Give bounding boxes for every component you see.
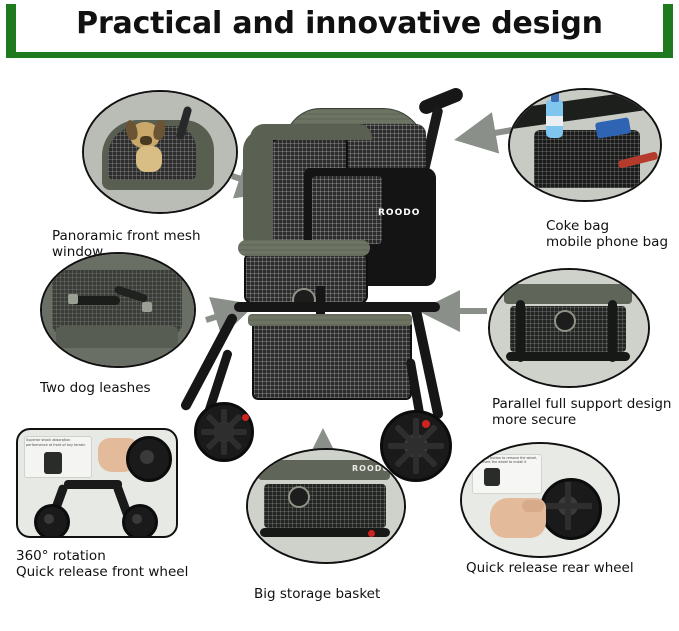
front-wheel: [194, 402, 254, 462]
lower-fabric-lip: [238, 240, 370, 256]
infographic-page: Practical and innovative design: [0, 0, 679, 631]
front-wheel-release: [242, 414, 249, 421]
storage-basket: [252, 320, 412, 400]
page-title: Practical and innovative design: [0, 6, 679, 41]
basket-release-dot: [368, 530, 375, 537]
feature-photo-parallel-full-support-design: [488, 268, 650, 388]
feature-photo-360-rotation-quick-release-front-wheel: Superior shock absorption performance at…: [16, 428, 178, 538]
caption-parallel-full-support-design: Parallel full support design more secure: [492, 396, 679, 428]
frame-rail-upper: [234, 302, 440, 312]
caption-two-dog-leashes: Two dog leashes: [40, 380, 240, 396]
canopy-trim-top: [250, 124, 372, 140]
feature-photo-two-dog-leashes: [40, 252, 196, 368]
caption-quick-release-rear-wheel: Quick release rear wheel: [466, 560, 666, 576]
caption-360-rotation-quick-release-front-wheel: 360° rotation Quick release front wheel: [16, 548, 226, 580]
header-band: Practical and innovative design: [0, 0, 679, 58]
brand-badge-inset: ROODO: [352, 464, 390, 473]
feature-photo-panoramic-front-mesh-window: [82, 90, 238, 214]
cabin-side-mesh: [312, 176, 382, 244]
caption-big-storage-basket: Big storage basket: [254, 586, 434, 602]
feature-photo-coke-bag-mobile-phone-bag: [508, 88, 662, 202]
hub-logo-emblem-basket: [288, 486, 310, 508]
frame-rail-vert-mid: [316, 286, 325, 316]
rear-wheel-inset-label: Press the button to remove the wheel, an…: [474, 456, 538, 465]
caption-coke-bag-mobile-phone-bag: Coke bag mobile phone bag: [546, 218, 679, 250]
feature-photo-quick-release-rear-wheel: Press the button to remove the wheel, an…: [460, 442, 620, 558]
feature-photo-big-storage-basket: ROODO: [246, 448, 406, 564]
hub-logo-emblem-inset: [554, 310, 576, 332]
brand-badge: ROODO: [378, 208, 420, 218]
rotation-inset-label: Superior shock absorption performance at…: [26, 438, 88, 447]
rear-wheel-release: [422, 420, 430, 428]
storage-basket-rim: [248, 314, 412, 326]
